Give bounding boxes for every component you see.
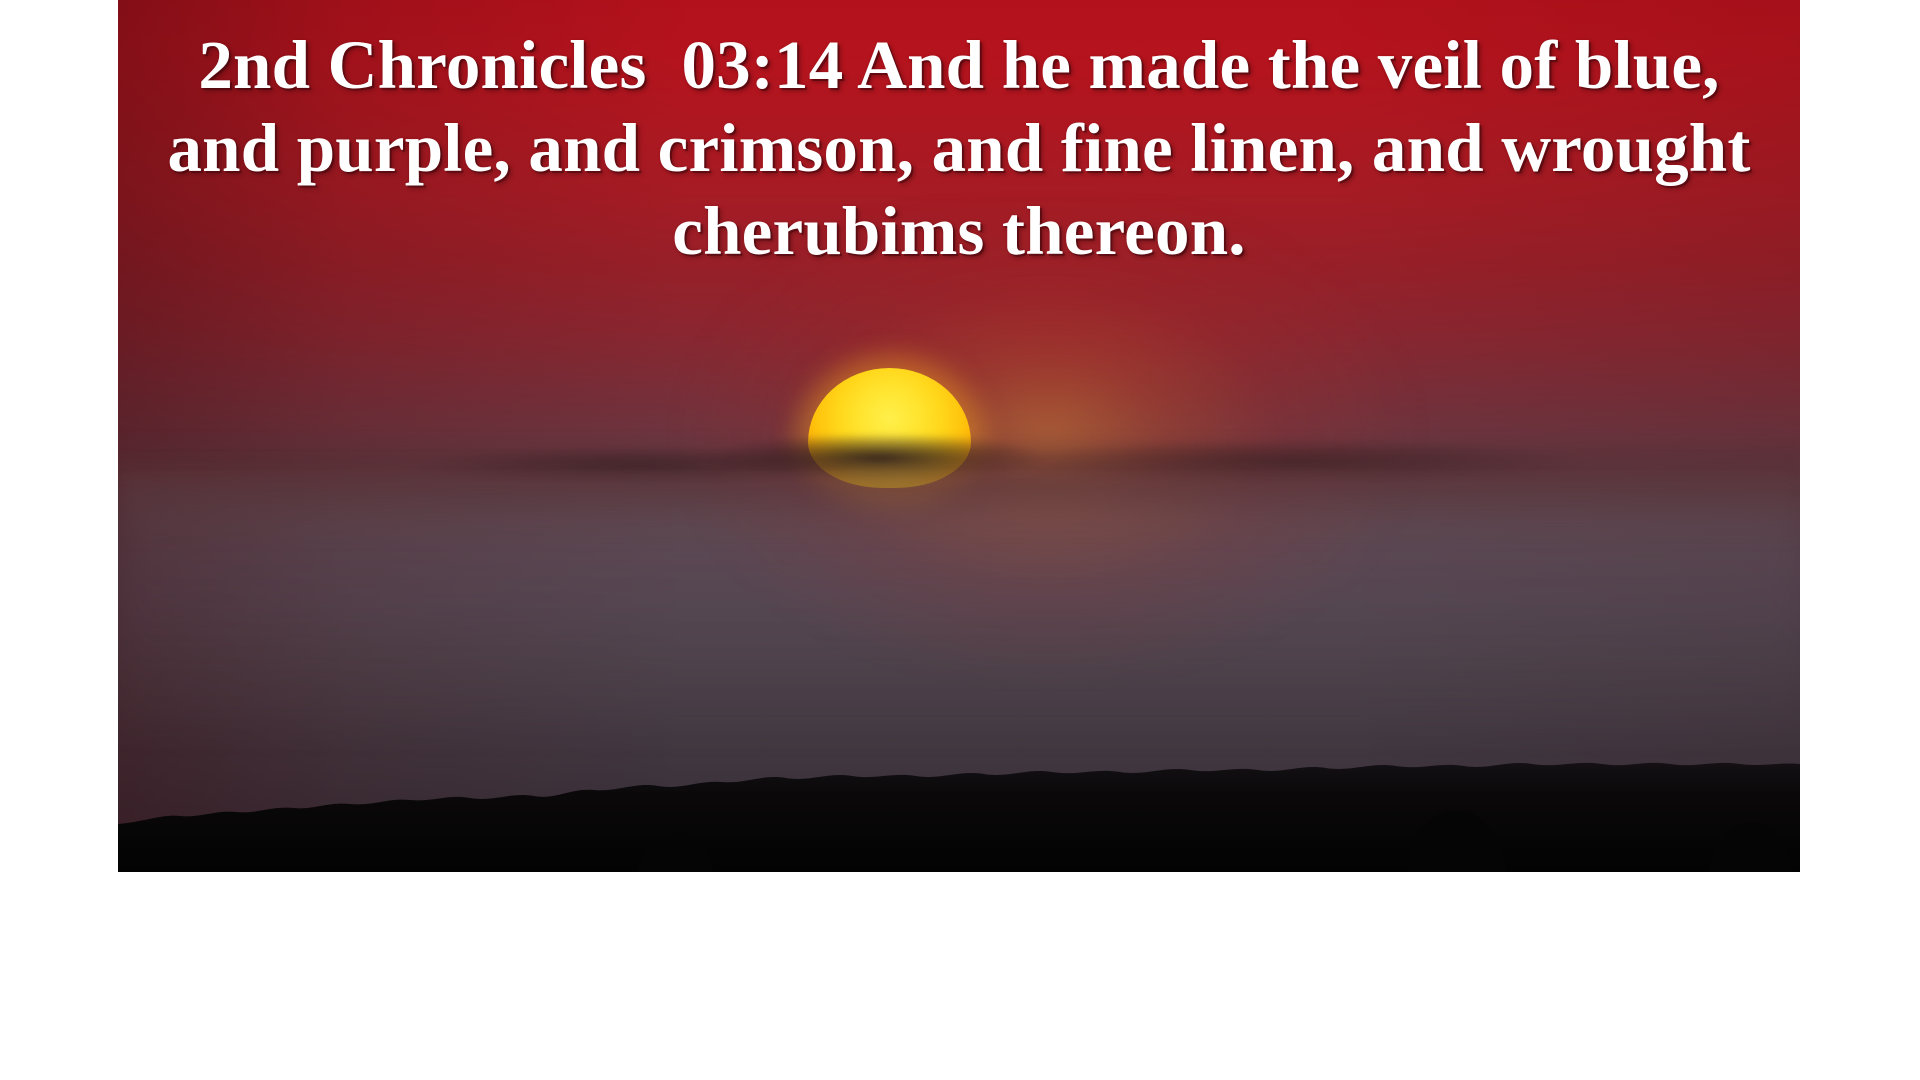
ground-silhouette (118, 682, 1800, 872)
ground-silhouette-shape (118, 682, 1800, 872)
bible-verse-text: 2nd Chronicles 03:14 And he made the vei… (118, 24, 1800, 273)
slide-canvas: 2nd Chronicles 03:14 And he made the vei… (0, 0, 1920, 1080)
